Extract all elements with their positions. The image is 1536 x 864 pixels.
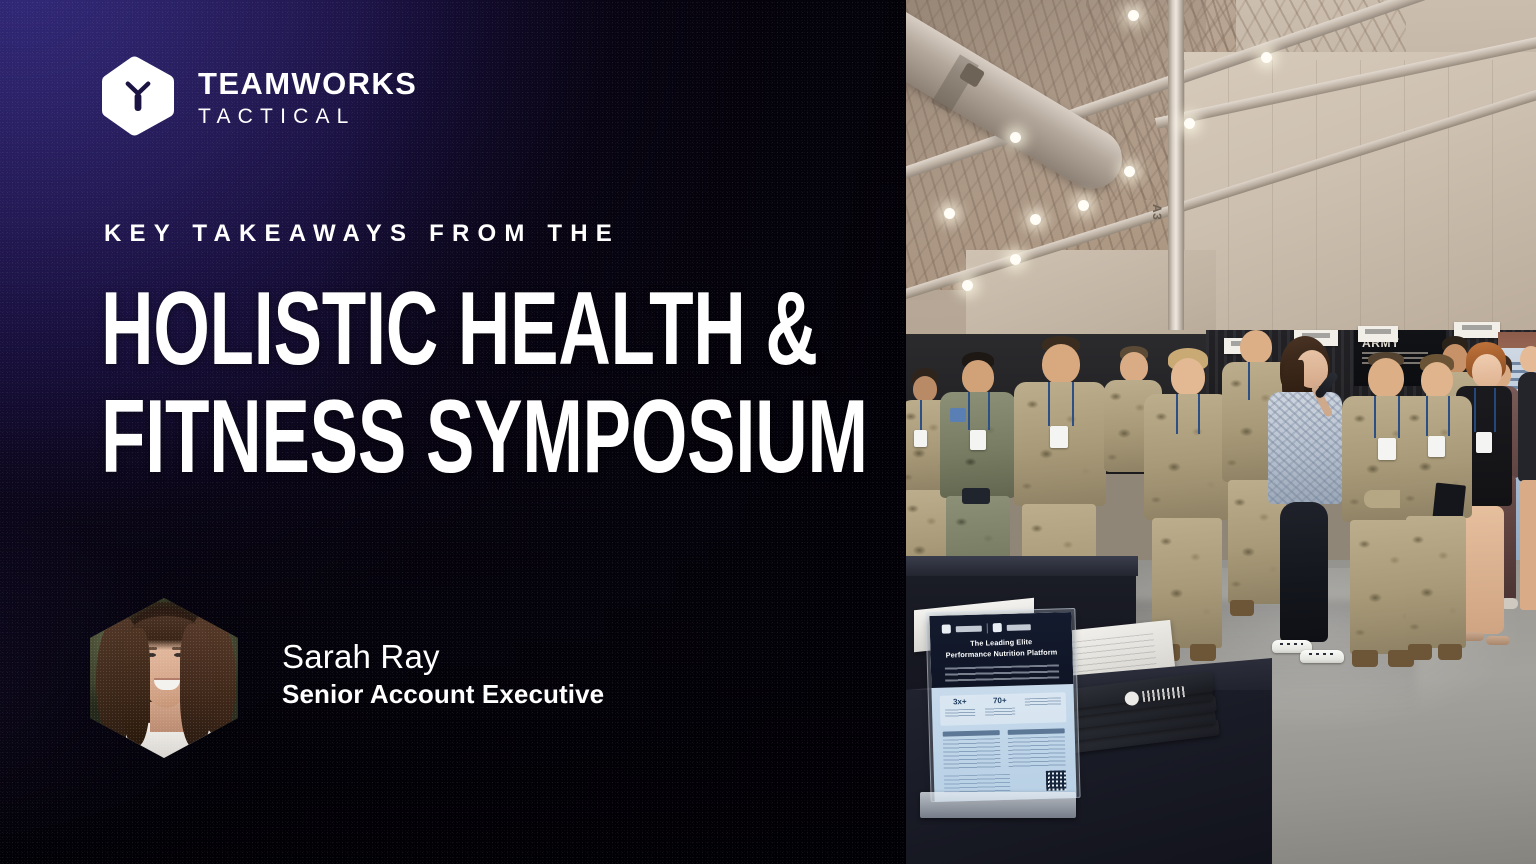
presentation-slide: TEAMWORKS TACTICAL KEY TAKEAWAYS FROM TH… [0,0,1536,864]
flyer-footer [944,766,1067,793]
flyer-header: The Leading Elite Performance Nutrition … [929,612,1073,688]
ceiling-lamp [944,208,955,219]
title-panel: TEAMWORKS TACTICAL KEY TAKEAWAYS FROM TH… [0,0,906,864]
flyer-stat-value: 70+ [985,697,1015,707]
booth-table-edge [906,556,1138,576]
ceiling-lamp [1128,10,1139,21]
flyer-logo-primary-label [956,625,982,632]
speaker-role: Senior Account Executive [282,679,604,710]
structural-column [1168,0,1184,330]
attendee-service-member [1400,354,1472,672]
teamworks-mark-icon [942,624,951,633]
presenter-with-microphone [1266,336,1344,682]
ceiling-lamp [962,280,973,291]
nutrition-mark-icon [993,623,1002,632]
ceiling-lamp [1010,254,1021,265]
booth-hanging-sign [1358,326,1398,342]
flyer-stat: 70+ [985,697,1016,717]
flyer-stat: 3x+ [945,698,976,718]
page-title: HOLISTIC HEALTH & FITNESS SYMPOSIUM [101,278,861,495]
ceiling-lamp [1010,132,1021,143]
attendee-service-member [1144,348,1230,668]
event-photo: A3 ARMY [906,0,1536,864]
ceiling-lamp [1078,200,1089,211]
flyer-stat-value [1025,695,1061,696]
ceiling-lamp [1030,214,1041,225]
slide-eyebrow: KEY TAKEAWAYS FROM THE [104,222,620,246]
flyer-column [1008,728,1066,772]
flyer-title: The Leading Elite Performance Nutrition … [938,636,1065,661]
ceiling-lamp [1124,166,1135,177]
brand-name-secondary: TACTICAL [198,100,417,127]
brand-logo-lockup: TEAMWORKS TACTICAL [100,56,417,136]
avatar [90,598,238,758]
ceiling-lamp [1261,52,1272,63]
flyer-column [943,730,1001,774]
column-label: A3 [1150,204,1164,220]
flyer-title-line-1: The Leading Elite [970,637,1032,648]
teamworks-hexagon-y-icon [100,56,176,136]
speaker-name: Sarah Ray [282,638,604,677]
headline-line-2: FITNESS SYMPOSIUM [101,386,633,488]
speaker-block: Sarah Ray Senior Account Executive [90,598,604,758]
flyer-stats-row: 3x+ 70+ [940,692,1067,726]
ceiling-lamp [1184,118,1195,129]
brand-name-primary: TEAMWORKS [198,68,417,99]
acrylic-stand-base [920,792,1076,818]
nutrition-platform-flyer: The Leading Elite Performance Nutrition … [929,612,1076,802]
flyer-logo-row [942,620,1060,634]
flyer-stat-value: 3x+ [945,698,975,708]
qr-code-icon [1046,770,1067,791]
flyer-subtext [945,664,1059,681]
attendee-civilian [1518,346,1536,656]
flyer-logo-secondary-label [1007,624,1031,631]
headline-line-1: HOLISTIC HEALTH & [101,278,633,380]
flyer-title-line-2: Performance Nutrition Platform [946,647,1058,659]
speaker-avatar-hexagon [90,598,238,758]
flyer-stat [1025,695,1061,706]
